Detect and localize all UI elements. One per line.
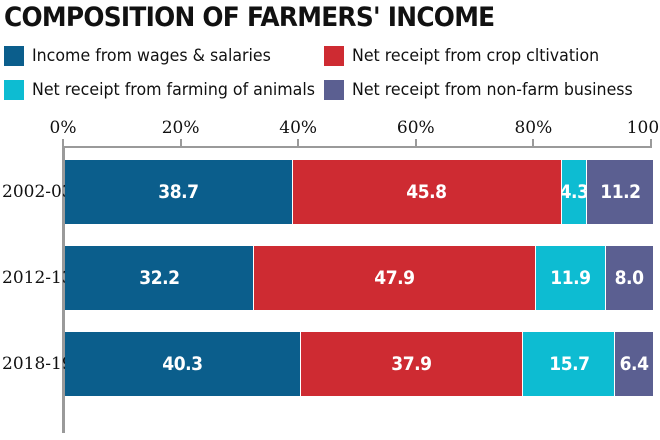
legend-item[interactable]: Net receipt from crop cltivation: [324, 46, 618, 66]
bar-row[interactable]: 2018-1940.337.915.76.4: [0, 332, 660, 396]
x-axis-tick-mark: [180, 139, 182, 148]
bar-value-label: 11.2: [600, 181, 640, 203]
x-axis-tick-mark: [62, 139, 64, 148]
bar-value-label: 15.7: [549, 353, 589, 375]
bar-value-label: 11.9: [550, 267, 590, 289]
x-axis-tick-mark: [415, 139, 417, 148]
legend-item[interactable]: Net receipt from non-farm business: [324, 80, 654, 100]
bar-segment[interactable]: 40.3: [65, 332, 301, 396]
bar-value-label: 40.3: [162, 353, 202, 375]
bar-segment[interactable]: 38.7: [65, 160, 293, 224]
stacked-bar: 32.247.911.98.0: [65, 246, 653, 310]
stacked-bar: 40.337.915.76.4: [65, 332, 653, 396]
bar-segment[interactable]: 11.2: [587, 160, 653, 224]
bar-value-label: 37.9: [392, 353, 432, 375]
legend-swatch-icon: [4, 46, 24, 66]
bar-value-label: 45.8: [406, 181, 446, 203]
legend-swatch-icon: [324, 46, 344, 66]
chart-legend: Income from wages & salariesNet receipt …: [4, 46, 656, 112]
page-title: COMPOSITION OF FARMERS' INCOME: [4, 1, 494, 35]
x-axis-tick-mark: [532, 139, 534, 148]
bar-row[interactable]: 2002-0338.745.84.311.2: [0, 160, 660, 224]
legend-label: Net receipt from farming of animals: [32, 80, 315, 100]
bar-value-label: 32.2: [139, 267, 179, 289]
legend-swatch-icon: [324, 80, 344, 100]
legend-item[interactable]: Income from wages & salaries: [4, 46, 289, 66]
category-label: 2012-13: [2, 268, 60, 288]
bar-segment[interactable]: 4.3: [562, 160, 587, 224]
bar-segment[interactable]: 32.2: [65, 246, 254, 310]
x-axis-tick-mark: [297, 139, 299, 148]
bar-segment[interactable]: 45.8: [293, 160, 562, 224]
bar-segment[interactable]: 47.9: [254, 246, 536, 310]
stacked-bar: 38.745.84.311.2: [65, 160, 653, 224]
legend-label: Income from wages & salaries: [32, 46, 271, 66]
bar-value-label: 4.3: [562, 181, 587, 203]
bar-segment[interactable]: 6.4: [615, 332, 653, 396]
bar-value-label: 47.9: [374, 267, 414, 289]
legend-item[interactable]: Net receipt from farming of animals: [4, 80, 336, 100]
x-axis-tick-label: 20%: [162, 118, 200, 138]
legend-label: Net receipt from crop cltivation: [352, 46, 599, 66]
x-axis-tick-label: 0%: [50, 118, 77, 138]
bar-segment[interactable]: 15.7: [523, 332, 615, 396]
bar-value-label: 8.0: [615, 267, 644, 289]
legend-label: Net receipt from non-farm business: [352, 80, 633, 100]
category-label: 2002-03: [2, 182, 60, 202]
x-axis-tick-label: 80%: [514, 118, 552, 138]
bar-value-label: 38.7: [158, 181, 198, 203]
bar-row[interactable]: 2012-1332.247.911.98.0: [0, 246, 660, 310]
bar-value-label: 6.4: [620, 353, 649, 375]
x-axis-tick-label: 60%: [397, 118, 435, 138]
x-axis-tick-mark: [650, 139, 652, 148]
legend-swatch-icon: [4, 80, 24, 100]
x-axis-tick-label: 100%: [627, 118, 660, 138]
bar-segment[interactable]: 37.9: [301, 332, 523, 396]
x-axis-tick-label: 40%: [279, 118, 317, 138]
category-label: 2018-19: [2, 354, 60, 374]
bar-segment[interactable]: 11.9: [536, 246, 606, 310]
plot-area: 2002-0338.745.84.311.22012-1332.247.911.…: [0, 148, 660, 440]
bar-segment[interactable]: 8.0: [606, 246, 653, 310]
